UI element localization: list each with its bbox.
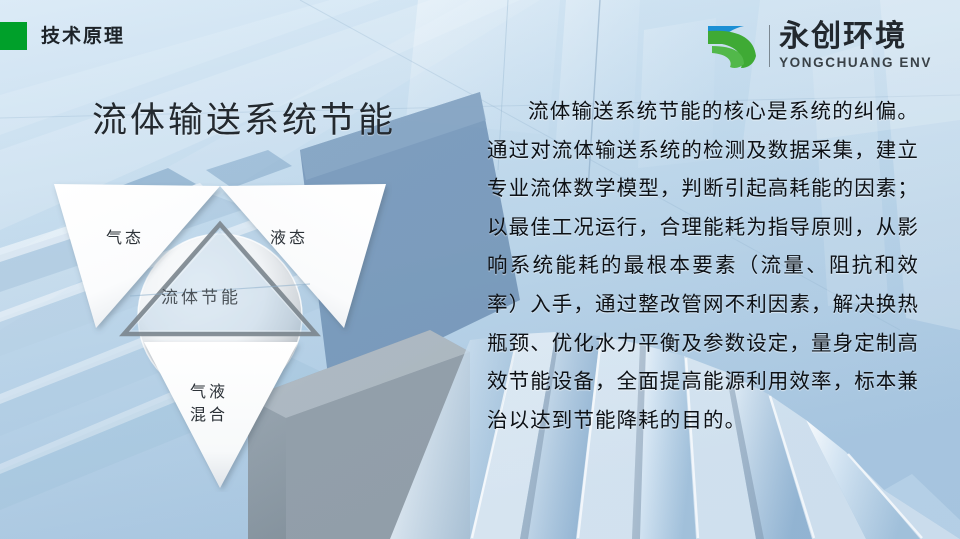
fluid-energy-diagram: 气态 液态 流体节能 气液 混合 <box>48 176 392 492</box>
company-logo: 永创环境 YONGCHUANG ENV <box>704 22 932 70</box>
yongchuang-leaf-logo-icon <box>704 22 760 70</box>
diagram-label-gas: 气态 <box>106 224 144 248</box>
diagram-label-center: 流体节能 <box>161 283 241 308</box>
diagram-label-liquid: 液态 <box>270 224 308 248</box>
slide-header: 技术原理 <box>0 22 125 50</box>
diagram-label-mixture-line2: 混合 <box>190 404 228 427</box>
diagram-graphic <box>48 176 392 492</box>
logo-text-block: 永创环境 YONGCHUANG ENV <box>779 22 932 70</box>
page-title: 流体输送系统节能 <box>92 102 396 141</box>
body-text-block: 流体输送系统节能的核心是系统的纠偏。通过对流体输送系统的检测及数据采集，建立专业… <box>487 92 919 439</box>
diagram-label-mixture: 气液 混合 <box>190 381 228 427</box>
diagram-label-mixture-line1: 气液 <box>190 381 228 404</box>
slide-canvas: 技术原理 永创环境 YONGCHUANG ENV 流体输送系统节能 <box>0 0 960 539</box>
body-paragraph: 流体输送系统节能的核心是系统的纠偏。通过对流体输送系统的检测及数据采集，建立专业… <box>487 92 919 439</box>
logo-company-cn: 永创环境 <box>779 22 932 52</box>
header-accent-square <box>0 22 27 50</box>
header-title: 技术原理 <box>41 27 125 46</box>
logo-divider <box>769 25 770 67</box>
logo-company-en: YONGCHUANG ENV <box>779 56 932 70</box>
